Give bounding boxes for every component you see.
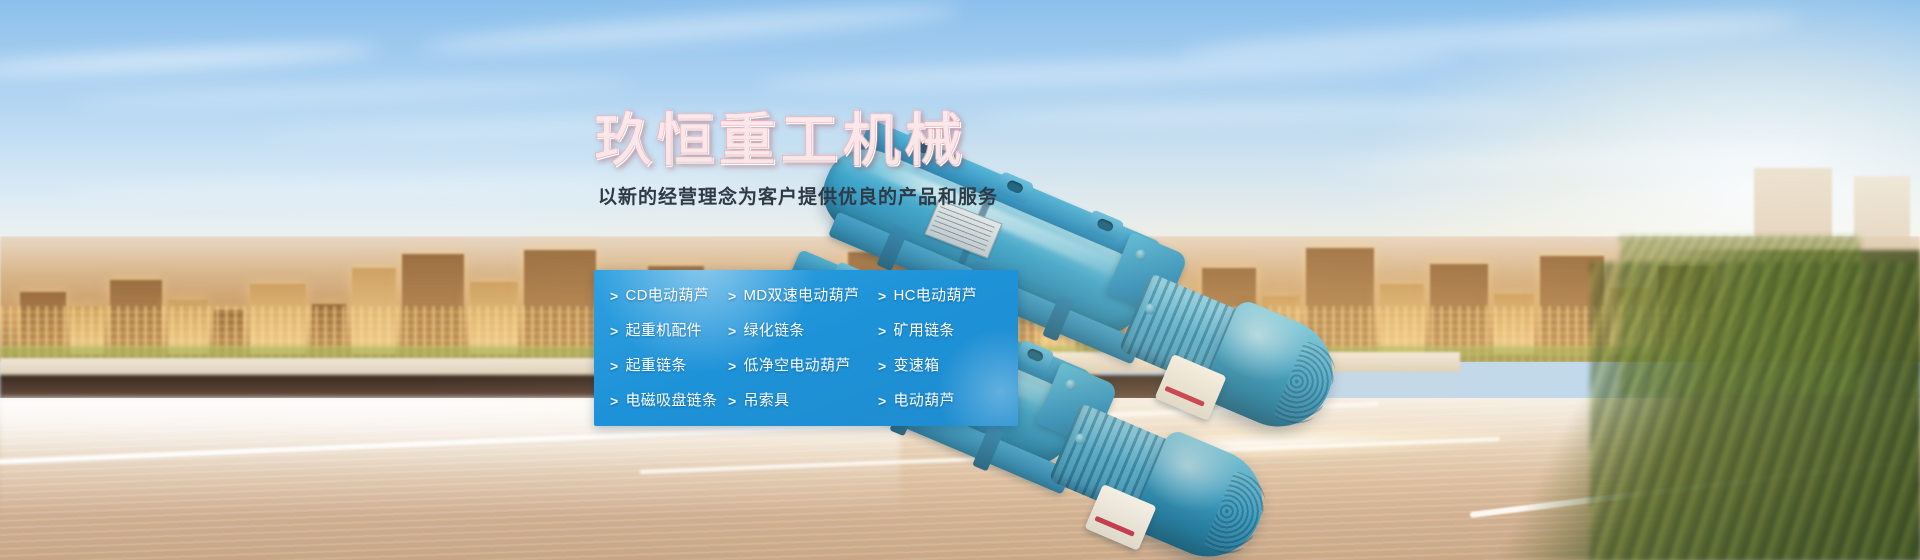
chevron-right-icon: > <box>610 322 618 340</box>
chevron-right-icon: > <box>728 322 736 340</box>
product-menu-grid: > CD电动葫芦 > MD双速电动葫芦 > HC电动葫芦 > 起重机配件 > 绿… <box>594 270 1018 426</box>
menu-item-magnetic-chuck-chain[interactable]: > 电磁吸盘链条 <box>610 392 728 410</box>
menu-item-label: 矿用链条 <box>893 322 954 340</box>
menu-item-label: HC电动葫芦 <box>893 287 976 305</box>
menu-item-label: 变速箱 <box>893 357 939 375</box>
menu-item-cd-electric-hoist[interactable]: > CD电动葫芦 <box>610 287 728 305</box>
page-title: 玖恒重工机械 <box>594 110 1034 172</box>
menu-item-crane-parts[interactable]: > 起重机配件 <box>610 322 728 340</box>
menu-item-md-dual-speed-hoist[interactable]: > MD双速电动葫芦 <box>728 287 878 305</box>
chevron-right-icon: > <box>878 322 886 340</box>
menu-item-low-headroom-hoist[interactable]: > 低净空电动葫芦 <box>728 357 878 375</box>
menu-item-label: MD双速电动葫芦 <box>743 287 859 305</box>
menu-item-label: 绿化链条 <box>743 322 804 340</box>
menu-item-label: 低净空电动葫芦 <box>743 357 850 375</box>
menu-item-label: 吊索具 <box>743 392 789 410</box>
chevron-right-icon: > <box>728 287 736 305</box>
menu-item-label: 起重机配件 <box>625 322 702 340</box>
menu-item-label: 起重链条 <box>625 357 686 375</box>
chevron-right-icon: > <box>610 392 618 410</box>
menu-item-lifting-chain[interactable]: > 起重链条 <box>610 357 728 375</box>
headline-block: 玖恒重工机械 以新的经营理念为客户提供优良的产品和服务 <box>594 110 1034 210</box>
chevron-right-icon: > <box>878 392 886 410</box>
menu-item-label: 电磁吸盘链条 <box>625 392 717 410</box>
chevron-right-icon: > <box>878 357 886 375</box>
page-subtitle: 以新的经营理念为客户提供优良的产品和服务 <box>598 186 1034 210</box>
chevron-right-icon: > <box>728 357 736 375</box>
menu-item-slings[interactable]: > 吊索具 <box>728 392 878 410</box>
chevron-right-icon: > <box>610 287 618 305</box>
chevron-right-icon: > <box>878 287 886 305</box>
roadside-foliage <box>1590 262 1920 560</box>
menu-item-label: CD电动葫芦 <box>625 287 708 305</box>
menu-item-greening-chain[interactable]: > 绿化链条 <box>728 322 878 340</box>
product-menu-panel: > CD电动葫芦 > MD双速电动葫芦 > HC电动葫芦 > 起重机配件 > 绿… <box>594 270 1018 426</box>
menu-item-electric-hoist[interactable]: > 电动葫芦 <box>878 392 1034 410</box>
menu-item-mining-chain[interactable]: > 矿用链条 <box>878 322 1034 340</box>
chevron-right-icon: > <box>728 392 736 410</box>
menu-item-hc-electric-hoist[interactable]: > HC电动葫芦 <box>878 287 1034 305</box>
menu-item-gearbox[interactable]: > 变速箱 <box>878 357 1034 375</box>
hero-banner: 玖恒重工机械 以新的经营理念为客户提供优良的产品和服务 > CD电动葫芦 > M… <box>0 0 1920 560</box>
chevron-right-icon: > <box>610 357 618 375</box>
menu-item-label: 电动葫芦 <box>893 392 954 410</box>
